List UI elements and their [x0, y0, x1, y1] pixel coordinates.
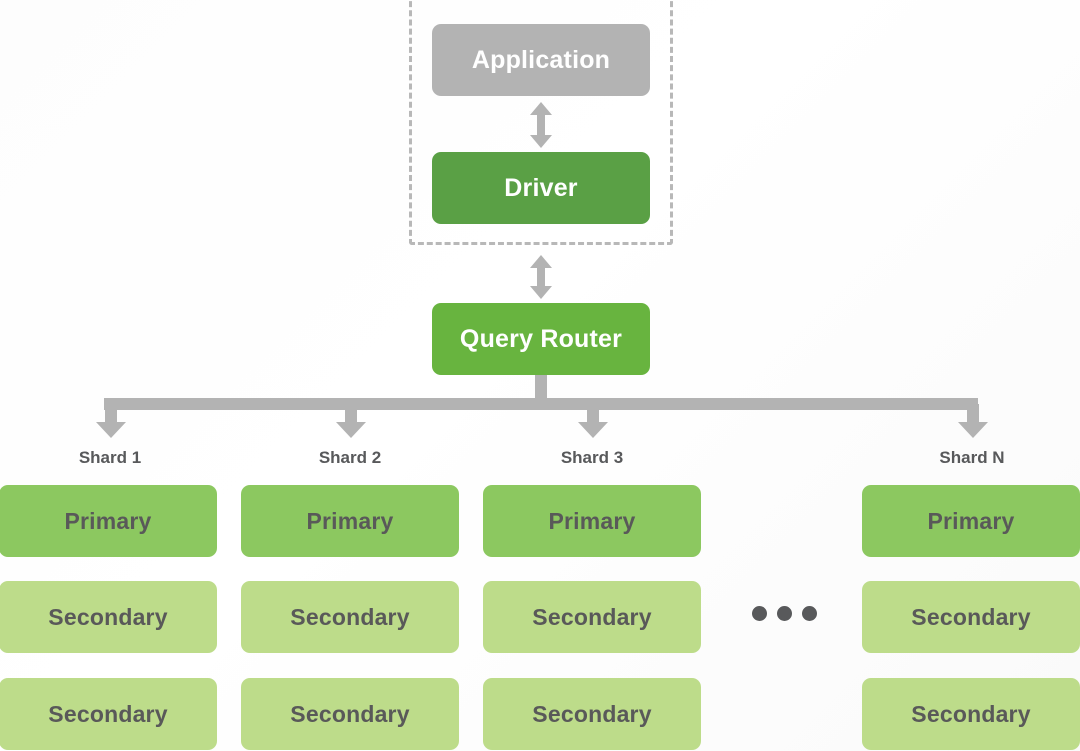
node-query-router[interactable]: Query Router [432, 303, 650, 375]
bus-arrow-shard-3-icon [578, 404, 608, 438]
bus-arrow-shard-2-icon [336, 404, 366, 438]
router-bus-bar [104, 398, 978, 410]
shard-2-secondary-2[interactable]: Secondary [241, 678, 459, 750]
shard-3-secondary-1[interactable]: Secondary [483, 581, 701, 653]
ellipsis-dot [777, 606, 792, 621]
shard-n-secondary-1[interactable]: Secondary [862, 581, 1080, 653]
node-driver[interactable]: Driver [432, 152, 650, 224]
shard-1-secondary-2[interactable]: Secondary [0, 678, 217, 750]
shard-2-primary[interactable]: Primary [241, 485, 459, 557]
connector-driver-router-icon [528, 255, 554, 299]
sharded-cluster-diagram: Application Driver Query Router [0, 0, 1080, 751]
node-application[interactable]: Application [432, 24, 650, 96]
bus-arrow-shard-1-icon [96, 404, 126, 438]
shard-1-secondary-1[interactable]: Secondary [0, 581, 217, 653]
bus-arrow-shard-n-icon [958, 404, 988, 438]
shard-3-secondary-2[interactable]: Secondary [483, 678, 701, 750]
shard-label-3: Shard 3 [512, 448, 672, 468]
shard-label-2: Shard 2 [270, 448, 430, 468]
shards-ellipsis-icon [752, 606, 817, 621]
ellipsis-dot [752, 606, 767, 621]
shard-label-n: Shard N [892, 448, 1052, 468]
shard-2-secondary-1[interactable]: Secondary [241, 581, 459, 653]
shard-n-secondary-2[interactable]: Secondary [862, 678, 1080, 750]
shard-label-1: Shard 1 [30, 448, 190, 468]
shard-n-primary[interactable]: Primary [862, 485, 1080, 557]
ellipsis-dot [802, 606, 817, 621]
shard-1-primary[interactable]: Primary [0, 485, 217, 557]
shard-3-primary[interactable]: Primary [483, 485, 701, 557]
connector-application-driver-icon [528, 102, 554, 148]
